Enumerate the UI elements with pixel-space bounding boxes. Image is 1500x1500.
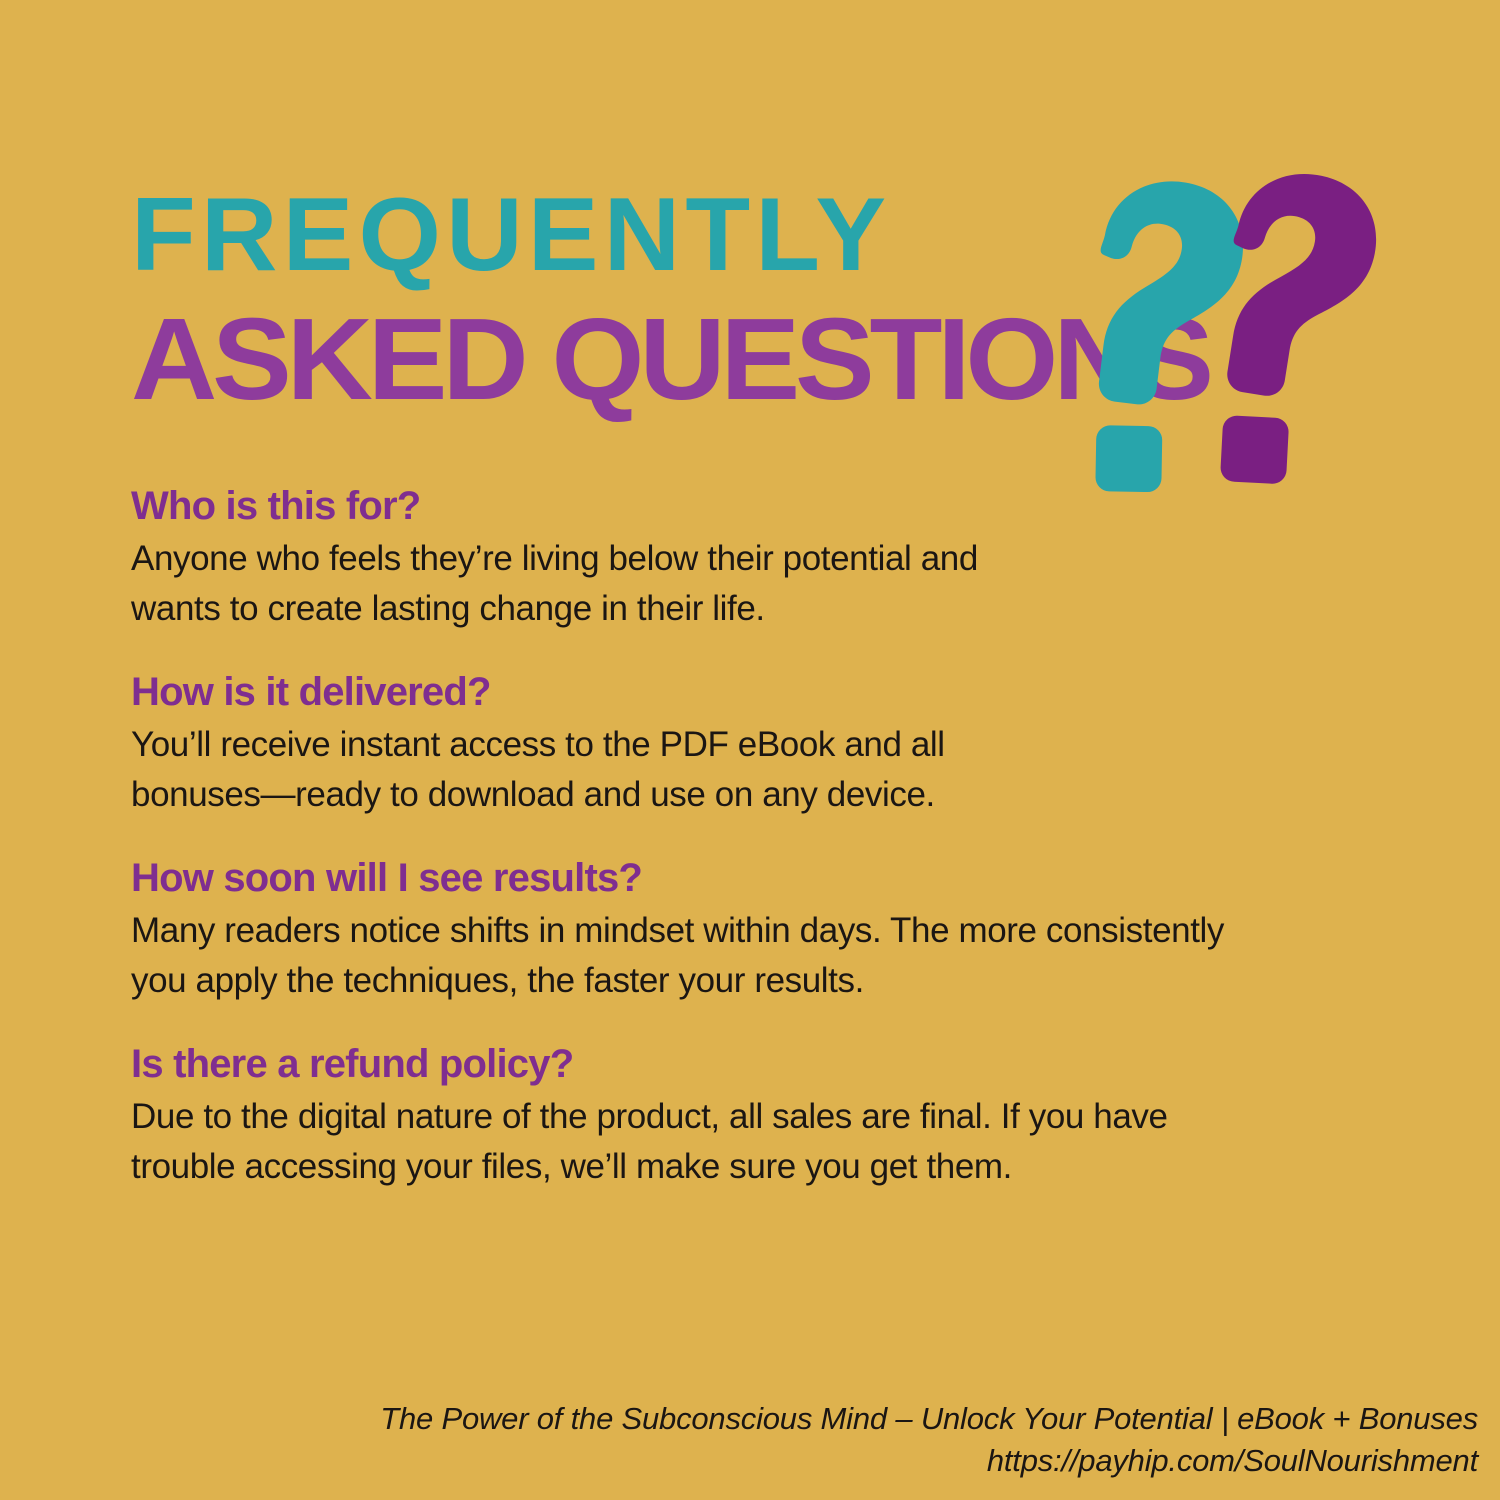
faq-poster: FREQUENTLY ASKED QUESTIONS Who is this f… (0, 0, 1500, 1500)
title-line-asked-questions: ASKED QUESTIONS (131, 301, 1209, 417)
faq-item: Is there a refund policy? Due to the dig… (131, 1040, 1391, 1192)
page-title: FREQUENTLY ASKED QUESTIONS (131, 183, 1421, 483)
footer: The Power of the Subconscious Mind – Unl… (278, 1398, 1478, 1482)
faq-item: How is it delivered? You’ll receive inst… (131, 668, 1391, 820)
faq-answer: Due to the digital nature of the product… (131, 1092, 1391, 1192)
faq-question: Is there a refund policy? (131, 1040, 1391, 1088)
faq-list: Who is this for? Anyone who feels they’r… (131, 482, 1391, 1192)
faq-question: How is it delivered? (131, 668, 1391, 716)
footer-url[interactable]: https://payhip.com/SoulNourishment (278, 1440, 1478, 1482)
footer-product-title: The Power of the Subconscious Mind – Unl… (278, 1398, 1478, 1440)
faq-item: How soon will I see results? Many reader… (131, 854, 1391, 1006)
faq-answer: Many readers notice shifts in mindset wi… (131, 906, 1391, 1006)
faq-answer: You’ll receive instant access to the PDF… (131, 720, 1391, 820)
faq-item: Who is this for? Anyone who feels they’r… (131, 482, 1391, 634)
faq-question: How soon will I see results? (131, 854, 1391, 902)
faq-answer: Anyone who feels they’re living below th… (131, 534, 1391, 634)
faq-question: Who is this for? (131, 482, 1391, 530)
title-line-frequently: FREQUENTLY (131, 183, 891, 287)
